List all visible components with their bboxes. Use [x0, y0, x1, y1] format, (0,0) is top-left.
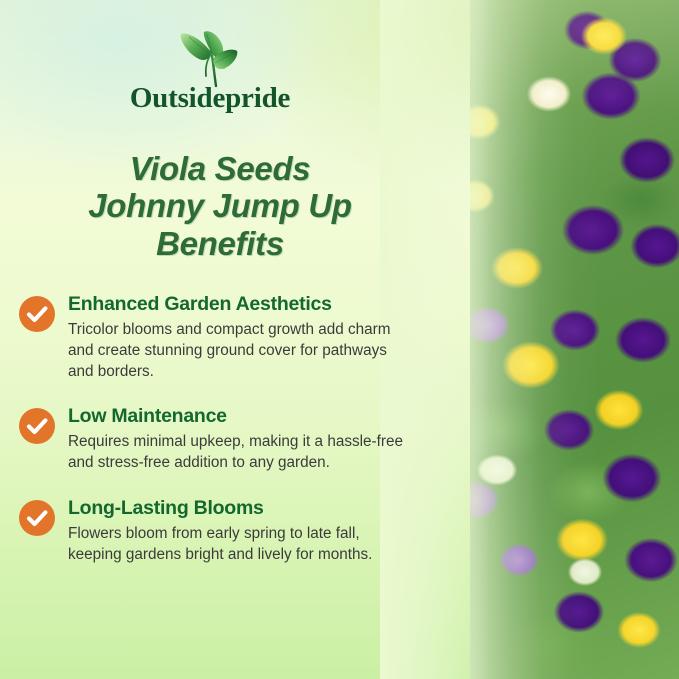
brand-logo: Outsidepride — [0, 28, 420, 113]
benefit-item: Low Maintenance Requires minimal upkeep,… — [18, 404, 428, 473]
orange-check-circle-icon — [18, 295, 56, 333]
orange-check-circle-icon — [18, 407, 56, 445]
benefit-description: Requires minimal upkeep, making it a has… — [68, 431, 408, 473]
orange-check-circle-icon — [18, 499, 56, 537]
benefits-list: Enhanced Garden Aesthetics Tricolor bloo… — [18, 292, 428, 587]
benefit-text: Enhanced Garden Aesthetics Tricolor bloo… — [68, 292, 428, 382]
benefit-description: Flowers bloom from early spring to late … — [68, 523, 408, 565]
title-line-3: Benefits — [20, 225, 420, 262]
benefit-description: Tricolor blooms and compact growth add c… — [68, 319, 408, 382]
brand-wordmark: Outsidepride — [130, 84, 290, 113]
title-line-2: Johnny Jump Up — [20, 187, 420, 224]
benefit-item: Long-Lasting Blooms Flowers bloom from e… — [18, 496, 428, 565]
benefit-title: Low Maintenance — [68, 405, 428, 428]
title-line-1: Viola Seeds — [20, 150, 420, 187]
page-title: Viola Seeds Johnny Jump Up Benefits — [20, 150, 420, 262]
benefits-infographic: Outsidepride Viola Seeds Johnny Jump Up … — [0, 0, 679, 679]
benefit-item: Enhanced Garden Aesthetics Tricolor bloo… — [18, 292, 428, 382]
seedling-leaves-icon — [167, 28, 253, 90]
benefit-text: Low Maintenance Requires minimal upkeep,… — [68, 404, 428, 473]
benefit-title: Enhanced Garden Aesthetics — [68, 293, 428, 316]
content-area: Outsidepride Viola Seeds Johnny Jump Up … — [0, 0, 679, 679]
benefit-text: Long-Lasting Blooms Flowers bloom from e… — [68, 496, 428, 565]
benefit-title: Long-Lasting Blooms — [68, 497, 428, 520]
